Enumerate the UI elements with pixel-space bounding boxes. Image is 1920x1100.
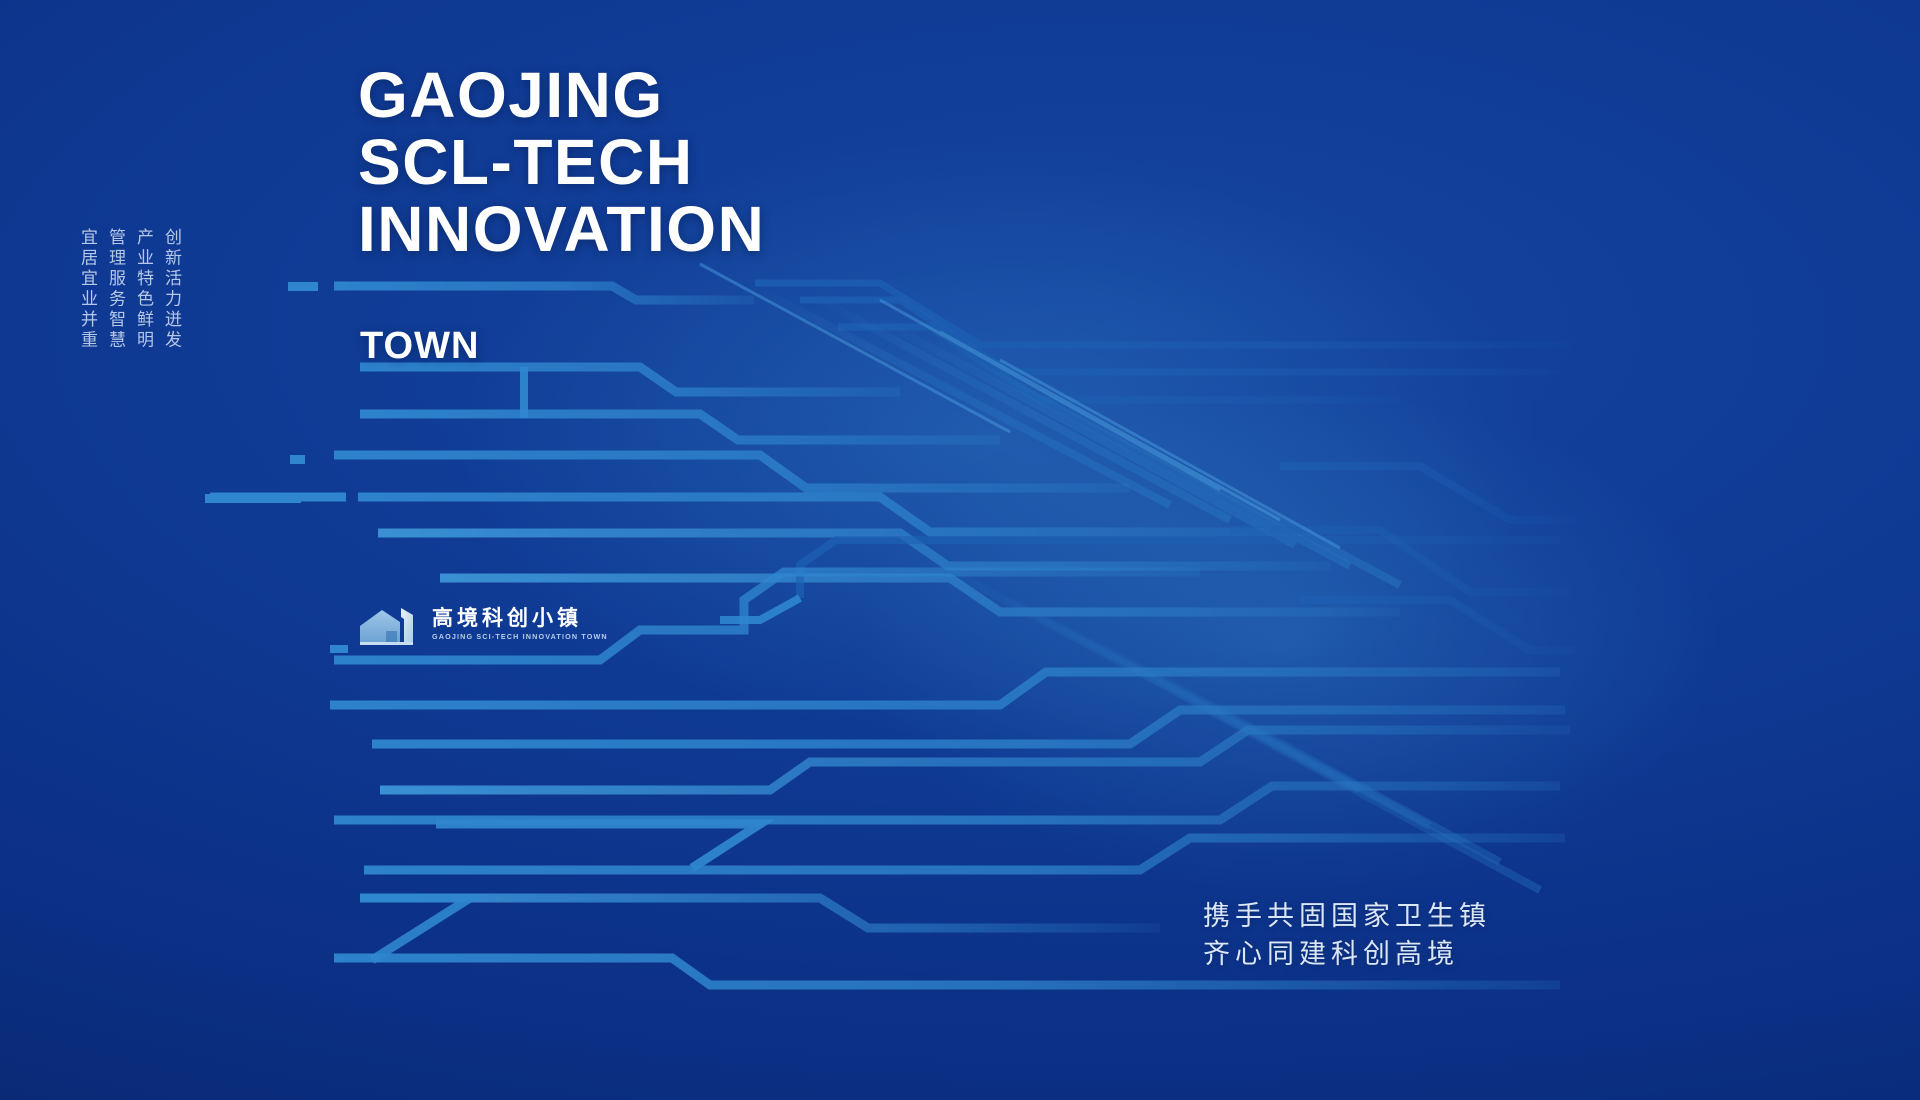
vertical-slogan: 创新活力迸发 产业特色鲜明 管理服务智慧 宜居宜业并重: [78, 228, 179, 351]
poster-canvas: 创新活力迸发 产业特色鲜明 管理服务智慧 宜居宜业并重 GAOJING SCL-…: [0, 0, 1920, 1100]
footer-slogan: 携手共固国家卫生镇 齐心同建科创高境: [1203, 898, 1491, 975]
vertical-slogan-column-2: 产业特色鲜明: [134, 228, 151, 351]
circuit-trace-background: [0, 0, 1920, 1100]
logo-english-name: GAOJING SCI-TECH INNOVATION TOWN: [432, 632, 608, 641]
vertical-slogan-column-1: 创新活力迸发: [162, 228, 179, 351]
footer-slogan-line-2: 齐心同建科创高境: [1203, 936, 1491, 974]
logo-text: 高境科创小镇 GAOJING SCI-TECH INNOVATION TOWN: [432, 607, 608, 641]
vertical-slogan-column-4: 宜居宜业并重: [78, 228, 95, 351]
logo-chinese-name: 高境科创小镇: [432, 607, 608, 629]
vertical-slogan-column-3: 管理服务智慧: [106, 228, 123, 351]
house-building-icon: [356, 602, 420, 646]
page-subtitle: TOWN: [360, 325, 479, 368]
logo: 高境科创小镇 GAOJING SCI-TECH INNOVATION TOWN: [356, 602, 608, 646]
page-title: GAOJING SCL-TECH INNOVATION: [358, 62, 765, 263]
footer-slogan-line-1: 携手共固国家卫生镇: [1203, 898, 1491, 936]
